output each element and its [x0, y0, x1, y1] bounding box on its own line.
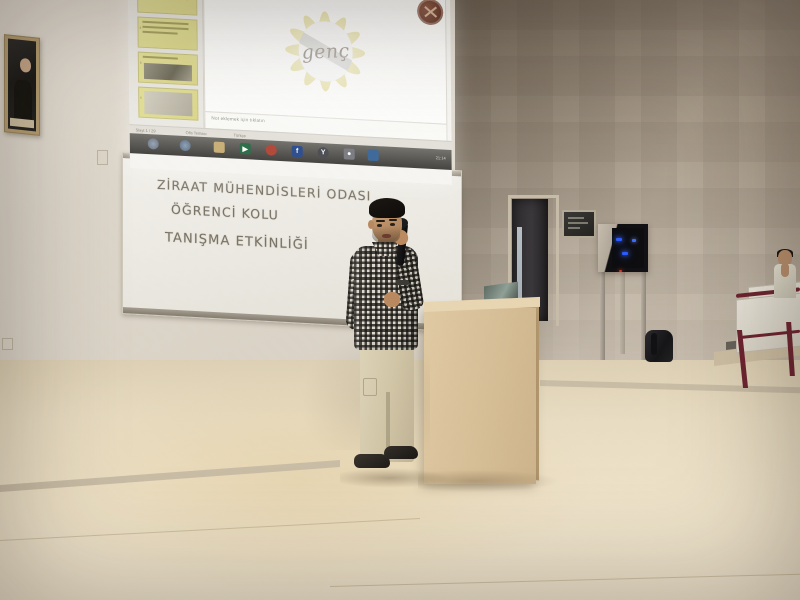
presenter-eye — [377, 224, 382, 227]
portrait-caption-plate — [10, 118, 35, 129]
contact-icon[interactable]: ● — [344, 148, 355, 160]
thumb-text-line — [142, 21, 188, 25]
framed-portrait — [4, 34, 40, 136]
attendee-arm — [781, 263, 789, 277]
presenter-mouth — [382, 234, 391, 238]
status-led — [622, 252, 628, 255]
projected-presentation: 3 4 5 6 — [128, 0, 452, 185]
slide-canvas[interactable]: genç — [203, 0, 447, 125]
powerpoint-window: 3 4 5 6 — [128, 0, 452, 185]
trouser-pocket — [363, 378, 377, 396]
portrait-canvas — [8, 39, 36, 132]
presenter-ear — [368, 220, 374, 229]
thumb-text-line — [143, 31, 178, 35]
slide-thumbnail[interactable]: 6 — [138, 87, 198, 121]
presenter-brow — [376, 220, 385, 222]
slide-number: 5 — [140, 61, 142, 65]
thumb-photo — [144, 63, 192, 82]
language-label: Türkçe — [234, 132, 246, 138]
media-player-icon[interactable]: ▶ — [240, 143, 251, 155]
stand-leg — [600, 268, 605, 360]
presenter-hand-lower — [384, 292, 400, 307]
panel-label-line — [568, 217, 584, 219]
slide-number: 6 — [140, 96, 142, 100]
thumb-photo — [144, 91, 192, 117]
portrait-face — [20, 58, 31, 73]
portrait-suit — [14, 79, 32, 120]
presenter-hair — [369, 198, 405, 218]
panel-label-line — [568, 227, 580, 229]
lectern — [424, 308, 536, 484]
genc-logo: genç — [277, 1, 374, 102]
wall-control-panel[interactable] — [562, 210, 596, 238]
slide-thumbnail[interactable]: 3 — [137, 0, 197, 16]
folder-icon[interactable] — [214, 142, 225, 154]
slide-thumbnail[interactable]: 4 — [137, 16, 197, 50]
presenter — [344, 196, 430, 484]
messenger-icon[interactable]: Y — [318, 147, 329, 159]
logo-wordmark: genç — [300, 40, 350, 64]
lecture-hall-photo: ZİRAAT MÜHENDİSLERİ ODASI ÖĞRENCİ KOLU T… — [0, 0, 800, 600]
photo-icon[interactable] — [266, 144, 277, 156]
browser-icon[interactable] — [180, 140, 191, 152]
slide-number: 4 — [139, 26, 141, 30]
cabinet-front-panel — [612, 228, 644, 268]
panel-label-line — [568, 222, 588, 224]
backpack-strap — [651, 333, 657, 355]
seated-attendee — [772, 250, 798, 298]
wristwatch — [396, 280, 409, 285]
thumb-text-line — [143, 56, 178, 60]
status-led — [632, 239, 636, 242]
presenter-brow — [389, 219, 397, 221]
power-led — [619, 270, 622, 272]
emblem-icon — [417, 0, 443, 26]
stand-leg — [620, 268, 625, 354]
backpack — [645, 330, 673, 362]
slide-thumbnail[interactable]: 5 — [138, 52, 198, 86]
taskbar-clock: 21:14 — [436, 155, 446, 161]
wall-outlet — [97, 150, 108, 165]
presenter-shoe-right — [384, 446, 418, 459]
status-led — [616, 238, 622, 241]
cabinet-stand — [600, 268, 646, 360]
start-icon[interactable] — [148, 138, 159, 150]
thumb-text-line — [142, 26, 188, 30]
theme-label: Ofis Teması — [186, 130, 207, 136]
wall-outlet-low — [2, 338, 13, 350]
presenter-eye — [390, 223, 395, 226]
facebook-icon[interactable]: f — [292, 146, 303, 158]
slide-thumbnail-pane[interactable]: 3 4 5 6 — [128, 0, 205, 128]
document-icon[interactable] — [368, 150, 379, 162]
slide-counter: Slayt 1 / 29 — [136, 127, 156, 133]
